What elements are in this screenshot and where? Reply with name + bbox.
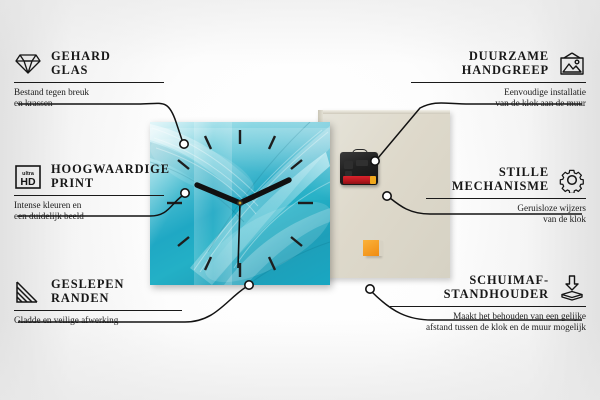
ultra-hd-icon: ultra HD bbox=[14, 163, 42, 191]
picture-frame-icon bbox=[558, 50, 586, 78]
beveled-edge-icon bbox=[14, 278, 42, 306]
feature-description: Maakt het behouden van een gelijke afsta… bbox=[390, 311, 586, 332]
feature-title: SCHUIMAF- STANDHOUDER bbox=[444, 274, 549, 301]
divider bbox=[14, 82, 164, 83]
foam-pad-side bbox=[379, 241, 383, 256]
product-infographic: GEHARD GLAS Bestand tegen breuk en krass… bbox=[0, 0, 600, 400]
feature-hoogwaardige-print: ultra HD HOOGWAARDIGE PRINT Intense kleu… bbox=[14, 163, 164, 221]
feature-description: Geruisloze wijzers van de klok bbox=[426, 203, 586, 224]
foam-spacer-icon bbox=[558, 274, 586, 302]
feature-geslepen-randen: GESLEPEN RANDEN Gladde en veilige afwerk… bbox=[14, 278, 182, 326]
feature-title: STILLE MECHANISME bbox=[452, 166, 549, 193]
divider bbox=[390, 306, 586, 307]
movement-body bbox=[340, 152, 378, 185]
feature-gehard-glas: GEHARD GLAS Bestand tegen breuk en krass… bbox=[14, 50, 164, 108]
feature-description: Bestand tegen breuk en krassen bbox=[14, 87, 164, 108]
divider bbox=[426, 198, 586, 199]
clock-dial bbox=[150, 122, 330, 285]
divider bbox=[14, 310, 182, 311]
clock-hands bbox=[197, 180, 289, 268]
product-image bbox=[150, 108, 450, 285]
feature-stille-mechanisme: STILLE MECHANISME Geruisloze wijzers van… bbox=[426, 166, 586, 224]
diamond-icon bbox=[14, 50, 42, 78]
movement-detail-a bbox=[344, 161, 353, 169]
battery-positive-terminal bbox=[370, 176, 376, 184]
feature-description: Gladde en veilige afwerking bbox=[14, 315, 182, 326]
clock-face bbox=[150, 122, 330, 285]
gear-icon bbox=[558, 166, 586, 194]
movement-detail-b bbox=[356, 160, 368, 166]
feature-description: Eenvoudige installatie van de klok aan d… bbox=[411, 87, 586, 108]
feature-title: GESLEPEN RANDEN bbox=[51, 278, 124, 305]
panel-top-edge bbox=[318, 110, 450, 114]
divider bbox=[411, 82, 586, 83]
clock-movement bbox=[340, 149, 378, 185]
feature-duurzame-handgreep: DUURZAME HANDGREEP Eenvoudige installati… bbox=[411, 50, 586, 108]
feature-schuimafstandhouder: SCHUIMAF- STANDHOUDER Maakt het behouden… bbox=[390, 274, 586, 332]
feature-title: GEHARD GLAS bbox=[51, 50, 111, 77]
divider bbox=[14, 195, 164, 196]
foam-spacer-pad bbox=[363, 240, 379, 256]
feature-title: HOOGWAARDIGE PRINT bbox=[51, 163, 170, 190]
feature-title: DUURZAME HANDGREEP bbox=[462, 50, 549, 77]
svg-text:HD: HD bbox=[20, 176, 36, 188]
feature-description: Intense kleuren en een duidelijk beeld bbox=[14, 200, 164, 221]
